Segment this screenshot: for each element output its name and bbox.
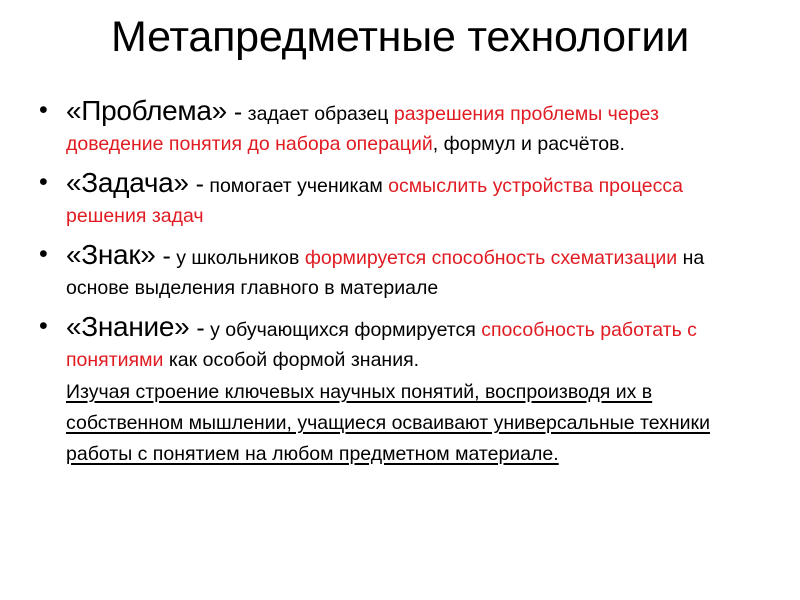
- bullet-point-icon: •: [39, 240, 57, 270]
- segment-text-highlight: формируется способность схематизации: [305, 247, 677, 269]
- segment-text: задает образец: [248, 103, 394, 125]
- bullet-point-icon: •: [39, 168, 57, 198]
- page-title: Метапредметные технологии: [0, 14, 800, 60]
- bullet-point-icon: •: [39, 312, 57, 342]
- term-dash: -: [163, 242, 171, 270]
- term-dash: -: [196, 314, 204, 342]
- list-item-text: «Задача» - помогает ученикам осмыслить у…: [66, 168, 756, 231]
- segment-text: у школьников: [176, 247, 305, 269]
- bullet-point-icon: •: [39, 96, 57, 126]
- term-label: «Знак»: [66, 239, 156, 270]
- segment-text: помогает ученикам: [209, 175, 388, 197]
- segment-text: , формул и расчётов.: [433, 133, 625, 155]
- list-item-text: «Знак» - у школьников формируется способ…: [66, 240, 756, 303]
- list-item: • «Знание» - у обучающихся формируется с…: [30, 312, 756, 470]
- segment-text: у обучающихся формируется: [210, 319, 481, 341]
- bullet-list: • «Проблема» - задает образец разрешения…: [30, 96, 756, 479]
- list-item: • «Задача» - помогает ученикам осмыслить…: [30, 168, 756, 231]
- term-label: «Проблема»: [66, 95, 227, 126]
- list-item: • «Знак» - у школьников формируется спос…: [30, 240, 756, 303]
- segment-text: как особой формой знания.: [163, 349, 419, 371]
- underlined-note-text: Изучая строение ключевых научных понятий…: [66, 377, 756, 470]
- list-item-text: «Знание» - у обучающихся формируется спо…: [66, 312, 756, 470]
- term-label: «Знание»: [66, 311, 189, 342]
- list-item: • «Проблема» - задает образец разрешения…: [30, 96, 756, 159]
- slide-canvas: Метапредметные технологии • «Проблема» -…: [0, 0, 800, 600]
- term-dash: -: [196, 170, 204, 198]
- list-item-text: «Проблема» - задает образец разрешения п…: [66, 96, 756, 159]
- term-label: «Задача»: [66, 167, 189, 198]
- term-dash: -: [234, 98, 242, 126]
